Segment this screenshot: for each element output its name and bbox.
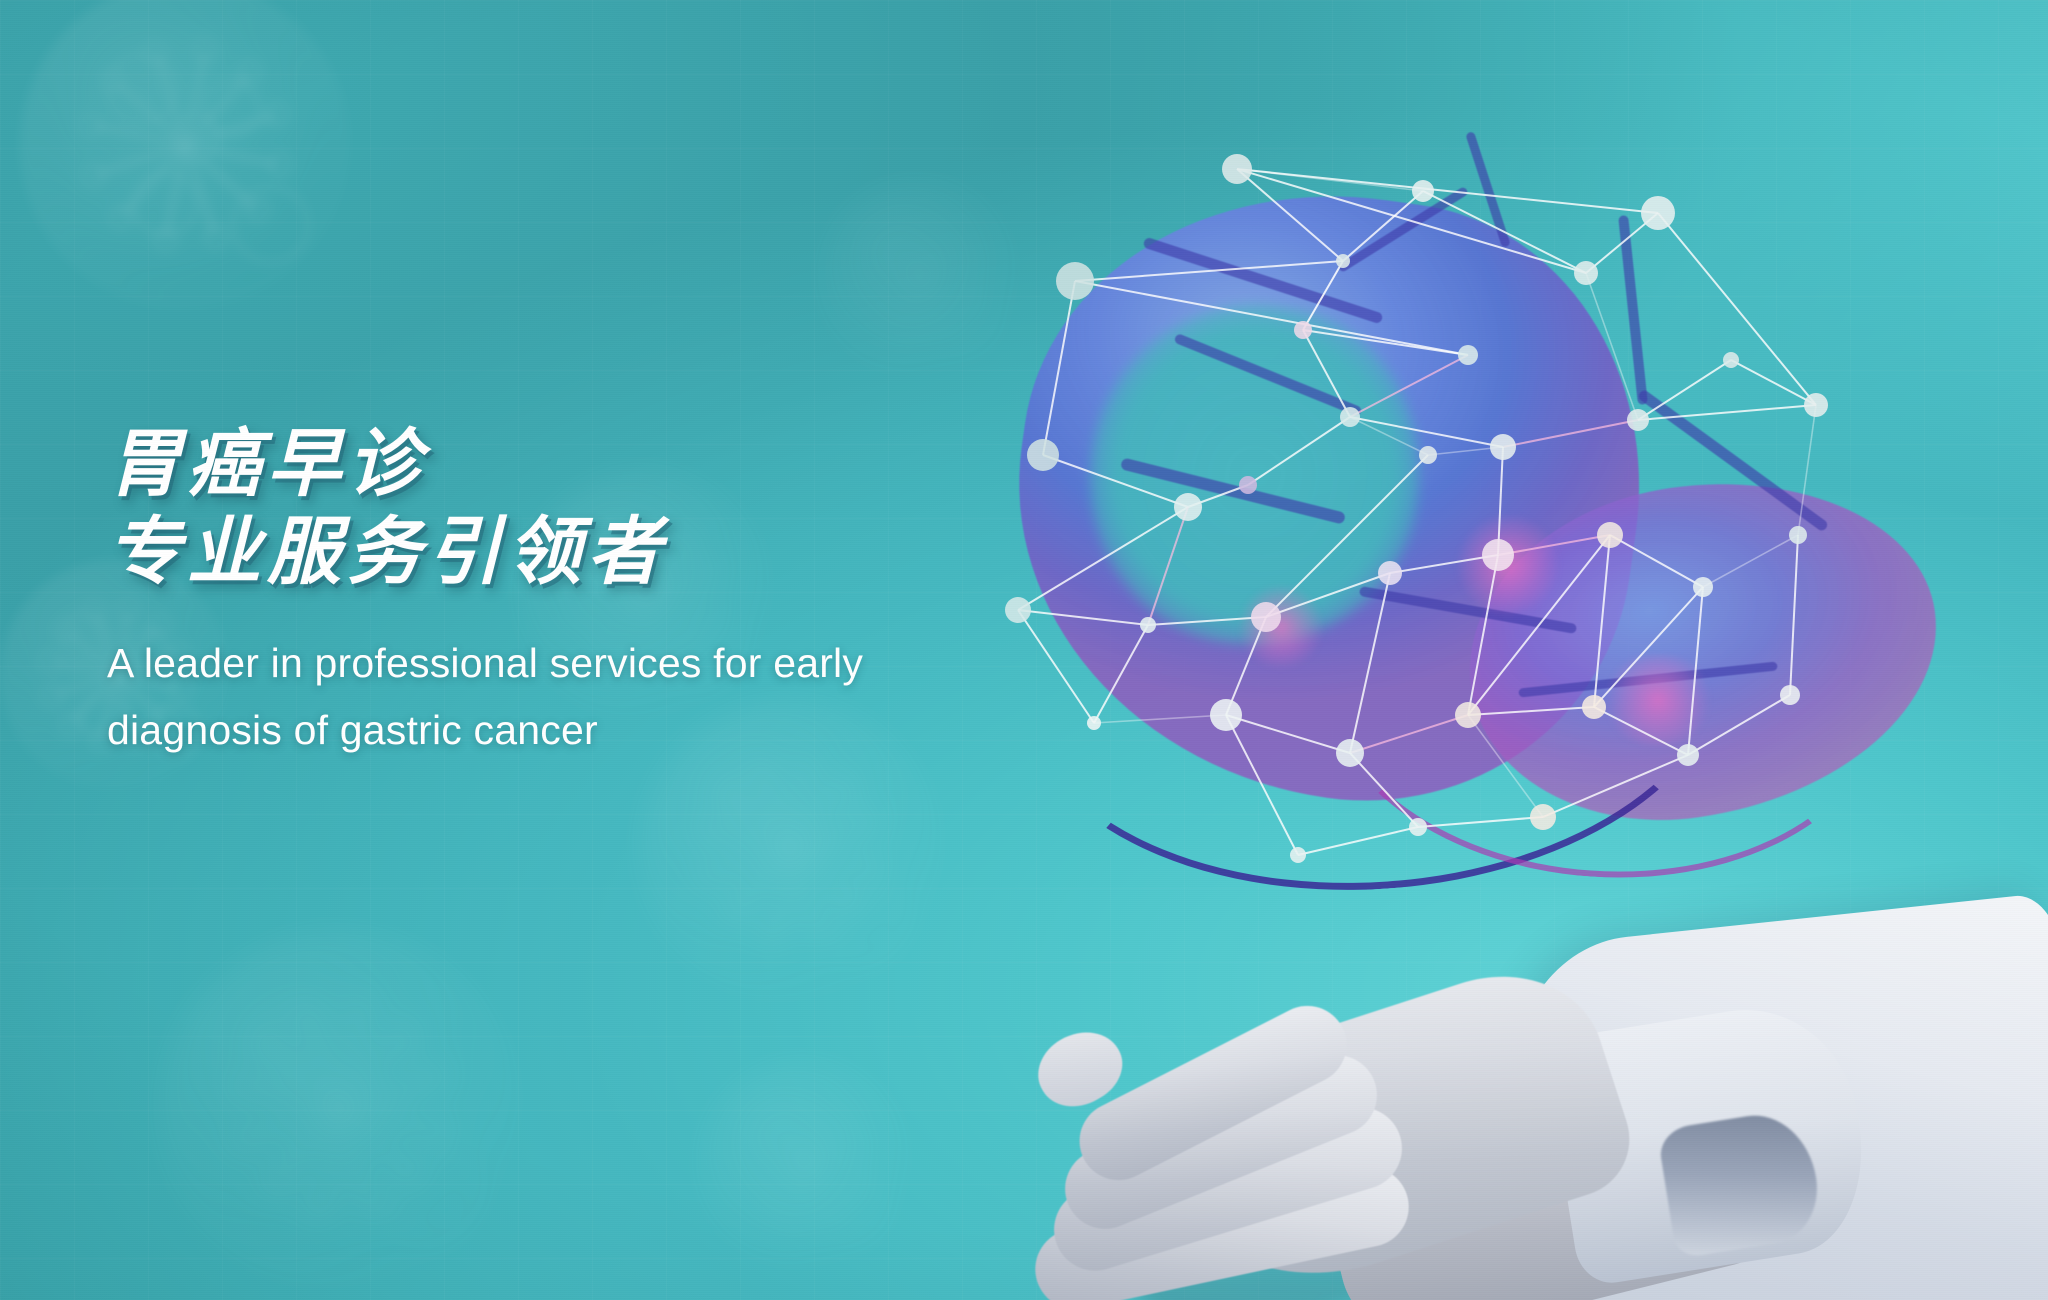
network-edge [1594, 707, 1688, 755]
network-node [1804, 393, 1828, 417]
network-edge [1790, 535, 1798, 695]
network-mesh [998, 155, 2018, 885]
network-node [1482, 539, 1514, 571]
network-node [1412, 180, 1434, 202]
subtitle-block: A leader in professional services for ea… [107, 630, 1117, 764]
network-edge [1248, 417, 1350, 485]
network-edge [1468, 715, 1543, 817]
network-edge [1543, 755, 1688, 817]
network-edge [1226, 715, 1350, 753]
network-edge [1303, 330, 1350, 417]
network-edge [1350, 355, 1468, 417]
network-edge [1703, 535, 1798, 587]
network-edge [1798, 405, 1816, 535]
network-edge [1468, 555, 1498, 715]
network-edge [1303, 261, 1343, 330]
network-edge [1237, 169, 1658, 213]
network-edge [1266, 573, 1390, 617]
headline-line-1: 胃癌早诊 [107, 422, 1117, 506]
network-node [1789, 526, 1807, 544]
network-edge [1350, 753, 1418, 827]
network-edge [1237, 169, 1586, 273]
network-edge [1266, 455, 1428, 617]
network-node [1627, 409, 1649, 431]
network-node [1409, 818, 1427, 836]
network-edge [1498, 447, 1503, 555]
network-nodes [1005, 154, 1828, 863]
network-edge [1503, 420, 1638, 447]
network-edge [1586, 273, 1638, 420]
network-node [1582, 695, 1606, 719]
network-edge [1075, 261, 1343, 281]
network-node [1222, 154, 1252, 184]
stomach-illustration [998, 155, 2018, 885]
banner-hero: 胃癌早诊 专业服务引领者 A leader in professional se… [0, 0, 2048, 1300]
headline-line-2: 专业服务引领者 [107, 510, 1117, 594]
network-edge [1594, 535, 1610, 707]
network-edge [1350, 573, 1390, 753]
network-node [1378, 561, 1402, 585]
network-edge [1390, 555, 1498, 573]
network-node [1693, 577, 1713, 597]
subtitle-line-1: A leader in professional services for ea… [107, 630, 1117, 697]
network-node [1251, 602, 1281, 632]
network-edge [1343, 191, 1423, 261]
network-node [1140, 617, 1156, 633]
network-edge [1237, 169, 1343, 261]
network-node [1340, 407, 1360, 427]
network-edge [1468, 707, 1594, 715]
network-node [1641, 196, 1675, 230]
hero-copy: 胃癌早诊 专业服务引领者 A leader in professional se… [107, 422, 1117, 764]
network-node [1174, 493, 1202, 521]
network-edge [1350, 715, 1468, 753]
network-edge [1350, 417, 1428, 455]
network-edge [1298, 827, 1418, 855]
network-edge [1731, 360, 1816, 405]
network-node [1574, 261, 1598, 285]
network-edge [1658, 213, 1816, 405]
network-edge [1610, 535, 1703, 587]
network-edge [1148, 507, 1188, 625]
network-node [1490, 434, 1516, 460]
network-node [1210, 699, 1242, 731]
network-node [1336, 254, 1350, 268]
network-edge [1303, 330, 1468, 355]
network-edge [1594, 587, 1703, 707]
network-edge [1688, 587, 1703, 755]
network-node [1336, 739, 1364, 767]
network-edge [1638, 405, 1816, 420]
network-edge [1226, 715, 1298, 855]
network-node [1677, 744, 1699, 766]
network-node [1239, 476, 1257, 494]
network-node [1458, 345, 1478, 365]
network-edge [1638, 360, 1731, 420]
network-edge [1148, 617, 1266, 625]
network-node [1056, 262, 1094, 300]
network-edge [1075, 281, 1468, 355]
network-edge [1350, 417, 1503, 447]
network-node [1294, 321, 1312, 339]
subtitle-line-2: diagnosis of gastric cancer [107, 697, 1117, 764]
network-node [1530, 804, 1556, 830]
network-node [1723, 352, 1739, 368]
network-node [1455, 702, 1481, 728]
network-node [1597, 522, 1623, 548]
network-edge [1498, 535, 1610, 555]
network-node [1290, 847, 1306, 863]
network-node [1780, 685, 1800, 705]
network-edge [1418, 817, 1543, 827]
network-node [1419, 446, 1437, 464]
network-edge [1688, 695, 1790, 755]
